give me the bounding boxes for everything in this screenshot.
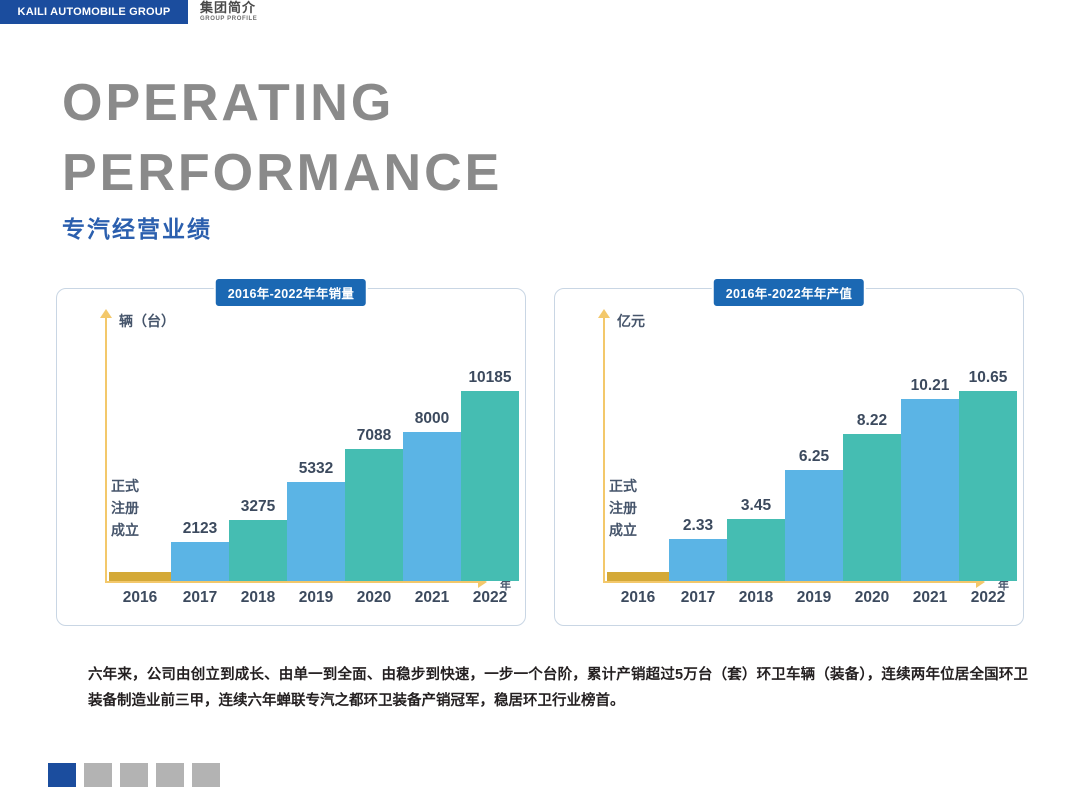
decorative-square-3 [120, 763, 148, 787]
bar-value-label: 10.21 [911, 377, 950, 395]
bar-2020[interactable] [843, 434, 901, 581]
decorative-square-4 [156, 763, 184, 787]
bar-series-output: 20162.3320173.4520186.2520198.22202010.2… [607, 319, 973, 581]
decorative-square-1 [48, 763, 76, 787]
bar-column: 101852022 [461, 319, 519, 581]
x-tick-label-2016: 2016 [621, 589, 655, 607]
bar-column: 6.252019 [785, 319, 843, 581]
y-axis-arrow-icon [100, 309, 112, 318]
bar-column: 10.212021 [901, 319, 959, 581]
bar-value-label: 2123 [183, 520, 217, 538]
bar-column: 2016 [607, 319, 669, 581]
bar-2019[interactable] [785, 470, 843, 581]
brand-banner: KAILI AUTOMOBILE GROUP [0, 0, 188, 24]
bar-column: 80002021 [403, 319, 461, 581]
bar-value-label: 7088 [357, 427, 391, 445]
x-tick-label-2020: 2020 [357, 589, 391, 607]
x-axis-line [603, 581, 977, 583]
decorative-square-5 [192, 763, 220, 787]
bar-2016[interactable] [109, 572, 171, 581]
bar-column: 21232017 [171, 319, 229, 581]
section-tag-english: GROUP PROFILE [200, 15, 320, 23]
y-axis-arrow-icon [598, 309, 610, 318]
bar-value-label: 5332 [299, 460, 333, 478]
brand-name: KAILI AUTOMOBILE GROUP [18, 6, 171, 18]
x-tick-label-2017: 2017 [681, 589, 715, 607]
page-subtitle: 专汽经营业绩 [62, 210, 212, 244]
bar-2022[interactable] [959, 391, 1017, 581]
x-tick-label-2020: 2020 [855, 589, 889, 607]
section-tag-chinese: 集团简介 [200, 1, 320, 14]
bar-column: 53322019 [287, 319, 345, 581]
x-axis-line [105, 581, 479, 583]
page-title-line-2: PERFORMANCE [62, 138, 502, 208]
bar-column: 8.222020 [843, 319, 901, 581]
bar-column: 10.652022 [959, 319, 1017, 581]
bar-series-sales: 2016212320173275201853322019708820208000… [109, 319, 475, 581]
decorative-square-2 [84, 763, 112, 787]
section-tag: 集团简介 GROUP PROFILE [200, 1, 320, 23]
chart-cards-container: 2016年-2022年年销量 辆（台） 年 正式 注册 成立 201621232… [56, 288, 1024, 628]
bar-2018[interactable] [229, 520, 287, 581]
bar-column: 3.452018 [727, 319, 785, 581]
bar-value-label: 3275 [241, 498, 275, 516]
bar-2016[interactable] [607, 572, 669, 581]
x-tick-label-2021: 2021 [415, 589, 449, 607]
x-tick-label-2019: 2019 [299, 589, 333, 607]
chart-card-annual-output: 2016年-2022年年产值 亿元 年 正式 注册 成立 20162.33201… [554, 288, 1024, 626]
chart-plot-output: 亿元 年 正式 注册 成立 20162.3320173.4520186.2520… [555, 289, 1023, 625]
x-tick-label-2022: 2022 [971, 589, 1005, 607]
bar-2022[interactable] [461, 391, 519, 581]
bar-value-label: 3.45 [741, 497, 771, 515]
bar-value-label: 8000 [415, 410, 449, 428]
x-tick-label-2018: 2018 [241, 589, 275, 607]
chart-card-annual-sales: 2016年-2022年年销量 辆（台） 年 正式 注册 成立 201621232… [56, 288, 526, 626]
bar-2021[interactable] [403, 432, 461, 581]
x-tick-label-2021: 2021 [913, 589, 947, 607]
bar-2017[interactable] [669, 539, 727, 581]
chart-plot-sales: 辆（台） 年 正式 注册 成立 201621232017327520185332… [57, 289, 525, 625]
y-axis-line [603, 315, 605, 583]
bar-2018[interactable] [727, 519, 785, 581]
bar-column: 2.332017 [669, 319, 727, 581]
page-title-line-1: OPERATING [62, 68, 502, 138]
x-tick-label-2019: 2019 [797, 589, 831, 607]
x-tick-label-2022: 2022 [473, 589, 507, 607]
x-tick-label-2018: 2018 [739, 589, 773, 607]
summary-paragraph: 六年来，公司由创立到成长、由单一到全面、由稳步到快速，一步一个台阶，累计产销超过… [88, 662, 1028, 714]
bar-column: 70882020 [345, 319, 403, 581]
bar-value-label: 8.22 [857, 412, 887, 430]
bar-column: 2016 [109, 319, 171, 581]
bar-2020[interactable] [345, 449, 403, 581]
bar-value-label: 6.25 [799, 448, 829, 466]
bar-2019[interactable] [287, 482, 345, 581]
bar-2017[interactable] [171, 542, 229, 582]
y-axis-line [105, 315, 107, 583]
x-tick-label-2017: 2017 [183, 589, 217, 607]
page-title: OPERATING PERFORMANCE [62, 68, 502, 208]
bar-2021[interactable] [901, 399, 959, 581]
bar-value-label: 2.33 [683, 517, 713, 535]
x-tick-label-2016: 2016 [123, 589, 157, 607]
bar-value-label: 10185 [468, 369, 511, 387]
page-header: KAILI AUTOMOBILE GROUP 集团简介 GROUP PROFIL… [0, 0, 1080, 26]
bar-column: 32752018 [229, 319, 287, 581]
decorative-squares [48, 763, 220, 787]
bar-value-label: 10.65 [969, 369, 1008, 387]
